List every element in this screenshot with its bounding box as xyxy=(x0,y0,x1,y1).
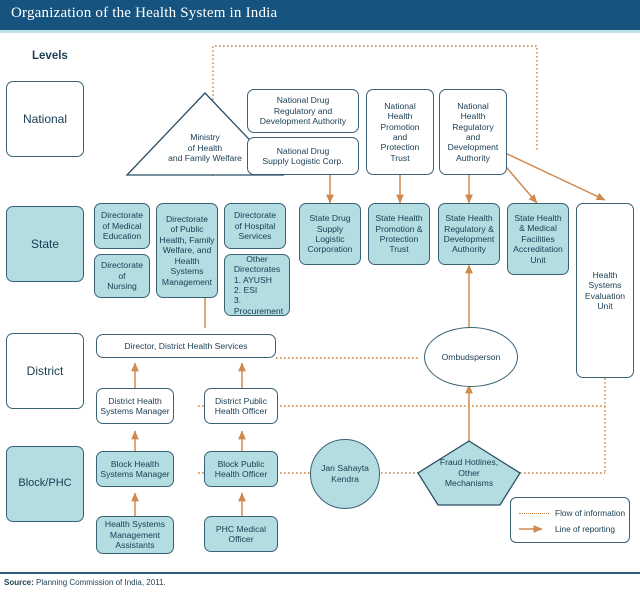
legend: Flow of information Line of reporting xyxy=(510,497,630,543)
diagram-page: Organization of the Health System in Ind… xyxy=(0,0,640,611)
node-district-public-health-officer: District PublicHealth Officer xyxy=(204,388,278,424)
legend-row-reporting: Line of reporting xyxy=(519,524,615,534)
node-fraud-hotlines: Fraud Hotlines,OtherMechanisms xyxy=(416,439,522,507)
other-directorates-title: OtherDirectorates xyxy=(234,254,280,274)
legend-reporting-label: Line of reporting xyxy=(555,524,615,534)
node-state-accreditation-unit: State Health& MedicalFacilitiesAccredita… xyxy=(507,203,569,275)
node-directorate-hospital-services: Directorateof HospitalServices xyxy=(224,203,286,249)
node-block-health-systems-manager: Block HealthSystems Manager xyxy=(96,451,174,487)
level-state: State xyxy=(6,206,84,282)
other-directorates-item-3: 3. Procurement xyxy=(231,295,283,316)
diagram-canvas: Levels National State District Block/PHC… xyxy=(0,33,640,568)
node-block-public-health-officer: Block PublicHealth Officer xyxy=(204,451,278,487)
source-text: Planning Commission of India, 2011. xyxy=(34,578,166,587)
legend-flow-label: Flow of information xyxy=(555,508,625,518)
node-state-health-regulatory: State HealthRegulatory &DevelopmentAutho… xyxy=(438,203,500,265)
node-district-health-systems-manager: District HealthSystems Manager xyxy=(96,388,174,424)
legend-row-flow: Flow of information xyxy=(519,508,625,518)
node-national-health-promotion-trust: NationalHealthPromotionandProtectionTrus… xyxy=(366,89,434,175)
other-directorates-item-2: 2. ESI xyxy=(231,285,283,295)
node-directorate-nursing: DirectorateofNursing xyxy=(94,254,150,298)
node-national-drug-supply: National DrugSupply Logistic Corp. xyxy=(247,137,359,175)
levels-label: Levels xyxy=(32,50,68,62)
node-directorate-medical-education: Directorateof MedicalEducation xyxy=(94,203,150,249)
node-jan-sahayta-kendra: Jan SahaytaKendra xyxy=(310,439,380,509)
node-phc-medical-officer: PHC MedicalOfficer xyxy=(204,516,278,552)
level-block: Block/PHC xyxy=(6,446,84,522)
other-directorates-item-1: 1. AYUSH xyxy=(231,275,283,285)
node-directorate-public-health: Directorateof PublicHealth, FamilyWelfar… xyxy=(156,203,218,298)
node-director-district-health-services: Director, District Health Services xyxy=(96,334,276,358)
node-state-drug-supply: State DrugSupplyLogisticCorporation xyxy=(299,203,361,265)
node-ministry-label: Ministryof Healthand Family Welfare xyxy=(168,132,242,177)
node-national-health-regulatory: NationalHealthRegulatoryandDevelopmentAu… xyxy=(439,89,507,175)
page-title: Organization of the Health System in Ind… xyxy=(11,5,277,22)
node-health-systems-evaluation-unit: HealthSystemsEvaluationUnit xyxy=(576,203,634,378)
node-other-directorates: OtherDirectorates 1. AYUSH 2. ESI 3. Pro… xyxy=(224,254,290,316)
node-national-drug-regulatory: National DrugRegulatory andDevelopment A… xyxy=(247,89,359,133)
level-district: District xyxy=(6,333,84,409)
dotted-line-icon xyxy=(519,513,549,514)
node-fraud-hotlines-label: Fraud Hotlines,OtherMechanisms xyxy=(416,439,522,507)
arrow-line-icon xyxy=(519,525,549,533)
node-health-systems-management-assistants: Health SystemsManagementAssistants xyxy=(96,516,174,554)
node-state-health-promotion: State HealthPromotion &ProtectionTrust xyxy=(368,203,430,265)
source-note: Source: Planning Commission of India, 20… xyxy=(4,578,166,587)
node-ombudsperson: Ombudsperson xyxy=(424,327,518,387)
page-header: Organization of the Health System in Ind… xyxy=(0,0,640,33)
level-national: National xyxy=(6,81,84,157)
source-label: Source: xyxy=(4,578,34,587)
footer-divider xyxy=(0,572,640,574)
